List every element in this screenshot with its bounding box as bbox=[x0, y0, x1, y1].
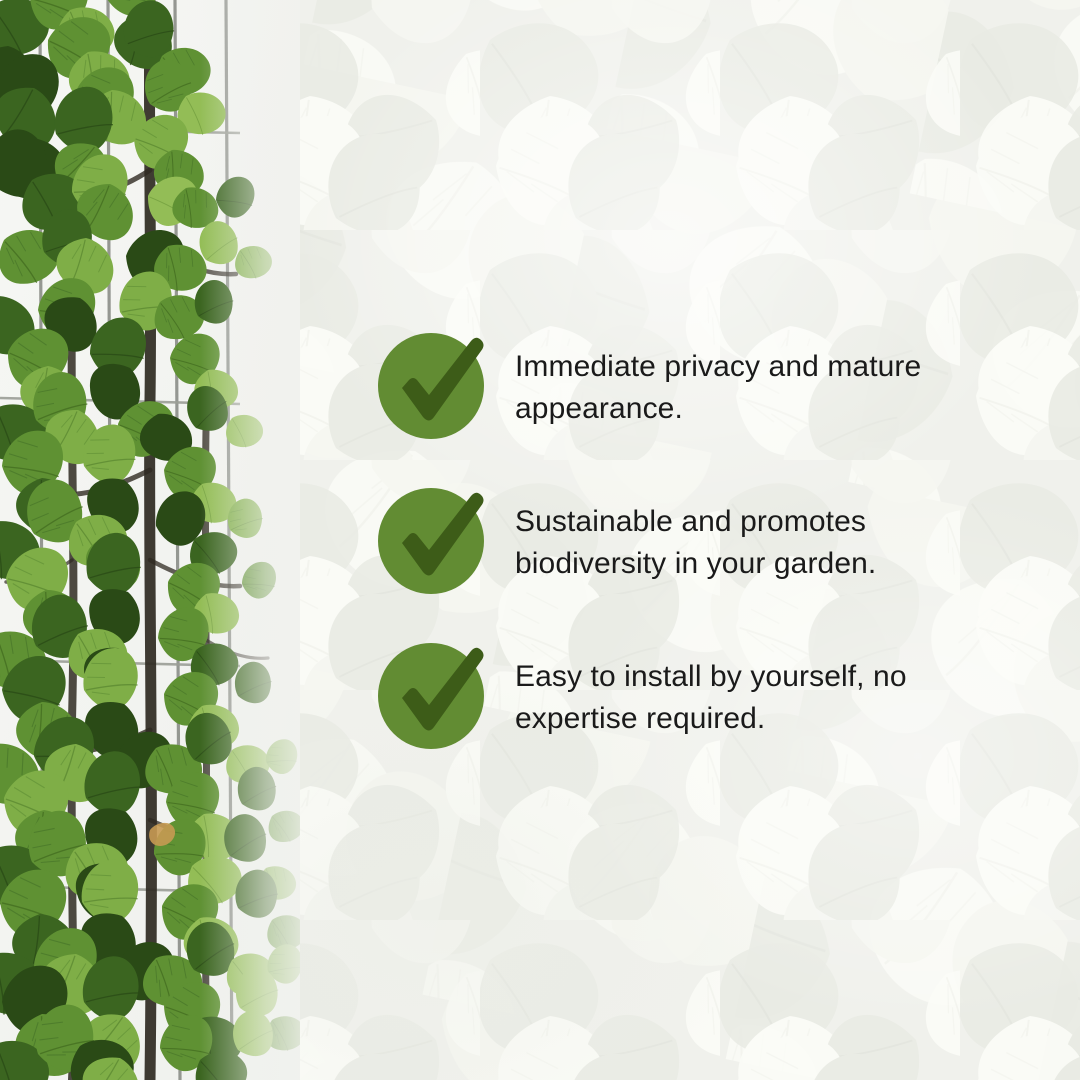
benefits-list: Immediate privacy and mature appearance.… bbox=[378, 333, 978, 798]
promo-graphic: Immediate privacy and mature appearance.… bbox=[0, 0, 1080, 1080]
list-item-label: Sustainable and promotes biodiversity in… bbox=[515, 488, 945, 585]
check-circle-icon bbox=[378, 488, 484, 594]
check-circle-icon bbox=[378, 333, 484, 439]
hedge-photo bbox=[0, 0, 300, 1080]
check-circle-icon bbox=[378, 643, 484, 749]
list-item-label: Immediate privacy and mature appearance. bbox=[515, 333, 945, 430]
list-item: Immediate privacy and mature appearance. bbox=[378, 333, 978, 488]
list-item: Sustainable and promotes biodiversity in… bbox=[378, 488, 978, 643]
list-item: Easy to install by yourself, no expertis… bbox=[378, 643, 978, 798]
list-item-label: Easy to install by yourself, no expertis… bbox=[515, 643, 945, 740]
